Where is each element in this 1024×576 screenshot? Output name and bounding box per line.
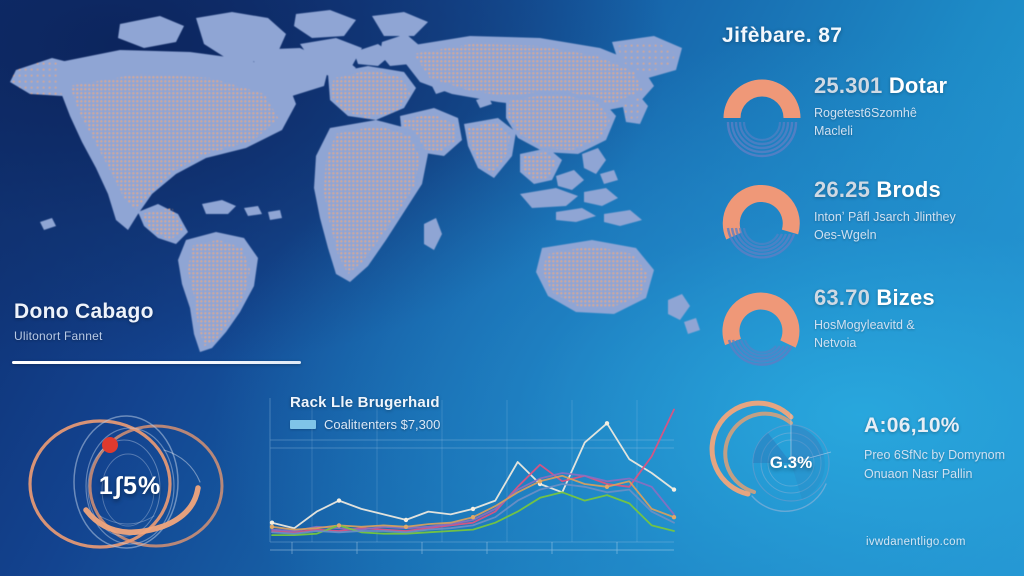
kpi-text-1: 25.301 Dotar Rogetest6Szomhê Macleli [814, 74, 1024, 141]
gauge-value: A:06,10% [864, 414, 1024, 438]
kpi-label-2b: Oes-Wgeln [814, 228, 877, 242]
kpi-card-2[interactable]: 26.25 Brods Intonʼ Pâfl Jsarch Jlinthey … [716, 180, 1024, 270]
legend-label: Coalitıenters $7,300 [324, 417, 440, 432]
left-panel-title: Dono Cabago [14, 300, 314, 324]
footer-url[interactable]: ivwdanentligo.com [866, 536, 966, 548]
gauge-label-b: Onuaon Nasr Pallin [864, 467, 972, 481]
data-point[interactable] [672, 515, 676, 519]
data-point[interactable] [605, 485, 609, 489]
left-panel-heading: Dono Cabago Ulitonort Fannet [14, 300, 314, 343]
kpi-text-3: 63.70 Bizes HosMogyleavitd & Netvoia [814, 286, 1024, 353]
line-chart-title: Rack Lle Brugerhaıd [290, 394, 440, 411]
data-point[interactable] [404, 518, 408, 522]
line-series-green [272, 492, 674, 535]
kpi-label-1b: Macleli [814, 124, 853, 138]
radial-gauge-chart [730, 400, 852, 526]
kpi-sidebar: Jifèbare. 87 25.301 Dotar [706, 0, 1024, 576]
gauge-label-a: Preo 6SfNc by Domynom [864, 448, 1005, 462]
kpi-label-3a: HosMogyleavitd & [814, 318, 915, 332]
data-point[interactable] [605, 421, 609, 425]
line-chart-legend[interactable]: Coalitıenters $7,300 [290, 417, 440, 432]
dashboard-title: Jifèbare. 87 [722, 24, 842, 48]
kpi-label-2a: Intonʼ Pâfl Jsarch Jlinthey [814, 210, 956, 224]
line-series-tan [272, 476, 674, 530]
legend-swatch-icon [290, 420, 316, 429]
kpi-unit-3: Bizes [876, 285, 934, 310]
radial-gauge-card[interactable]: G.3% A:06,10% Preo 6SfNc by Domynom Onua… [716, 400, 1024, 532]
dashboard-canvas: Dono Cabago Ulitonort Fannet 1ʃ5% [0, 0, 1024, 576]
kpi-label-3b: Netvoia [814, 336, 856, 350]
data-point[interactable] [270, 521, 274, 525]
gauge-text: A:06,10% Preo 6SfNc by Domynom Onuaon Na… [864, 414, 1024, 485]
line-chart-header: Rack Lle Brugerhaıd Coalitıenters $7,300 [290, 394, 440, 432]
section-divider [12, 361, 301, 364]
line-series-cream [272, 423, 674, 528]
kpi-card-1[interactable]: 25.301 Dotar Rogetest6Szomhê Macleli [716, 76, 1024, 166]
data-point[interactable] [270, 525, 274, 529]
data-point[interactable] [471, 507, 475, 511]
donut-chart-3 [720, 288, 804, 372]
data-point[interactable] [538, 479, 542, 483]
kpi-unit-2: Brods [876, 177, 941, 202]
line-chart-panel[interactable]: Rack Lle Brugerhaıd Coalitıenters $7,300 [262, 392, 682, 568]
data-point[interactable] [471, 515, 475, 519]
kpi-card-3[interactable]: 63.70 Bizes HosMogyleavitd & Netvoia [716, 288, 1024, 378]
data-point[interactable] [337, 498, 341, 502]
kpi-text-2: 26.25 Brods Intonʼ Pâfl Jsarch Jlinthey … [814, 178, 1024, 245]
percent-ring-widget[interactable]: 1ʃ5% [8, 398, 252, 570]
kpi-label-1a: Rogetest6Szomhê [814, 106, 917, 120]
kpi-unit-1: Dotar [889, 73, 947, 98]
donut-chart-1 [720, 76, 804, 160]
data-point[interactable] [337, 523, 341, 527]
ring-marker-dot [102, 437, 118, 453]
kpi-value-2: 26.25 [814, 177, 870, 202]
kpi-value-1: 25.301 [814, 73, 883, 98]
data-point[interactable] [404, 525, 408, 529]
donut-chart-2 [720, 180, 804, 264]
kpi-value-3: 63.70 [814, 285, 870, 310]
left-panel-subtitle: Ulitonort Fannet [14, 329, 314, 343]
data-point[interactable] [672, 487, 676, 491]
